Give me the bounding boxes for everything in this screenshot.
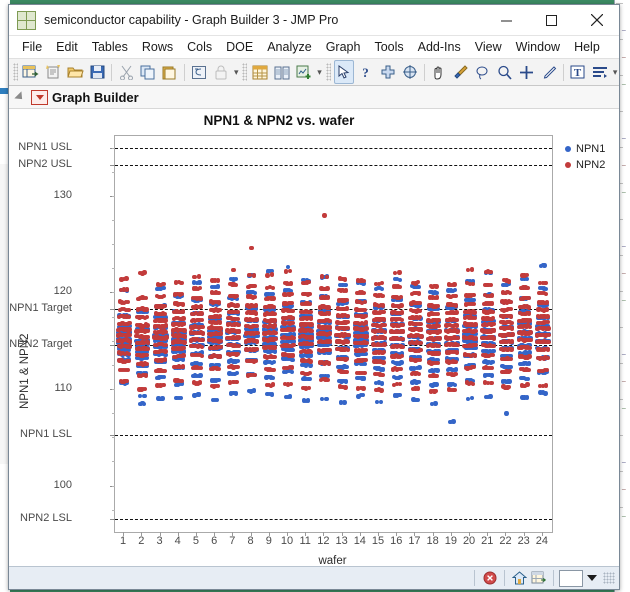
- data-point[interactable]: [507, 279, 511, 283]
- data-point[interactable]: [452, 282, 456, 286]
- data-point[interactable]: [361, 386, 365, 390]
- data-point[interactable]: [325, 378, 329, 382]
- data-point[interactable]: [307, 280, 311, 284]
- data-point[interactable]: [456, 336, 460, 340]
- data-point[interactable]: [236, 323, 240, 327]
- toolbar-grip[interactable]: [242, 63, 247, 81]
- report-outline-header[interactable]: Graph Builder: [9, 86, 619, 109]
- data-point[interactable]: [272, 360, 276, 364]
- data-point[interactable]: [451, 419, 455, 423]
- data-point[interactable]: [344, 288, 348, 292]
- data-point[interactable]: [217, 367, 221, 371]
- data-point[interactable]: [364, 348, 368, 352]
- data-point[interactable]: [436, 361, 440, 365]
- data-point[interactable]: [379, 388, 383, 392]
- menu-help[interactable]: Help: [567, 38, 607, 56]
- data-point[interactable]: [361, 279, 365, 283]
- data-point[interactable]: [327, 348, 331, 352]
- data-point[interactable]: [363, 314, 367, 318]
- data-point[interactable]: [507, 379, 511, 383]
- close-icon[interactable]: [574, 6, 619, 35]
- new-data-table-icon[interactable]: [21, 60, 41, 84]
- data-point[interactable]: [126, 308, 130, 312]
- data-point[interactable]: [528, 325, 532, 329]
- data-point[interactable]: [435, 291, 439, 295]
- data-point[interactable]: [510, 339, 514, 343]
- data-point[interactable]: [326, 295, 330, 299]
- data-point[interactable]: [525, 273, 529, 277]
- data-point[interactable]: [419, 327, 423, 331]
- data-point[interactable]: [417, 365, 421, 369]
- data-point[interactable]: [492, 336, 496, 340]
- data-point[interactable]: [510, 332, 514, 336]
- data-point[interactable]: [289, 292, 293, 296]
- data-point[interactable]: [237, 335, 241, 339]
- data-point[interactable]: [472, 310, 476, 314]
- data-point[interactable]: [546, 347, 550, 351]
- data-point[interactable]: [491, 344, 495, 348]
- data-point[interactable]: [381, 310, 385, 314]
- data-point[interactable]: [543, 281, 547, 285]
- data-point[interactable]: [272, 355, 276, 359]
- data-point[interactable]: [363, 358, 367, 362]
- data-point[interactable]: [528, 338, 532, 342]
- toolbar-overflow-2[interactable]: ▾: [315, 67, 323, 78]
- new-script-icon[interactable]: [43, 60, 63, 84]
- data-point[interactable]: [545, 300, 549, 304]
- data-point[interactable]: [544, 292, 548, 296]
- data-point[interactable]: [181, 364, 185, 368]
- data-point[interactable]: [526, 368, 530, 372]
- data-point[interactable]: [234, 380, 238, 384]
- data-point[interactable]: [434, 382, 438, 386]
- data-point[interactable]: [508, 291, 512, 295]
- data-point[interactable]: [252, 388, 256, 392]
- data-point[interactable]: [397, 393, 401, 397]
- crosshair-icon[interactable]: [378, 60, 398, 84]
- data-point[interactable]: [488, 394, 492, 398]
- data-point[interactable]: [160, 396, 164, 400]
- x-axis-title[interactable]: wafer: [114, 555, 551, 566]
- data-point[interactable]: [252, 284, 256, 288]
- data-point[interactable]: [472, 365, 476, 369]
- data-point[interactable]: [381, 303, 385, 307]
- data-point[interactable]: [218, 345, 222, 349]
- data-point[interactable]: [416, 380, 420, 384]
- data-point[interactable]: [235, 303, 239, 307]
- home-window-icon[interactable]: [510, 569, 529, 587]
- data-point[interactable]: [161, 383, 165, 387]
- menu-file[interactable]: File: [15, 38, 49, 56]
- data-point[interactable]: [307, 386, 311, 390]
- data-point[interactable]: [489, 381, 493, 385]
- data-point[interactable]: [327, 319, 331, 323]
- data-point[interactable]: [310, 329, 314, 333]
- brush-icon[interactable]: [451, 60, 471, 84]
- data-point[interactable]: [470, 396, 474, 400]
- data-point[interactable]: [345, 306, 349, 310]
- data-point[interactable]: [454, 303, 458, 307]
- data-point[interactable]: [127, 315, 131, 319]
- menu-doe[interactable]: DOE: [219, 38, 260, 56]
- data-point[interactable]: [453, 288, 457, 292]
- data-point[interactable]: [164, 335, 168, 339]
- data-point[interactable]: [270, 392, 274, 396]
- data-point[interactable]: [490, 360, 494, 364]
- data-point[interactable]: [435, 295, 439, 299]
- data-point[interactable]: [273, 349, 277, 353]
- data-point[interactable]: [289, 281, 293, 285]
- data-point[interactable]: [310, 335, 314, 339]
- data-point[interactable]: [219, 339, 223, 343]
- data-point[interactable]: [142, 394, 146, 398]
- data-point[interactable]: [289, 382, 293, 386]
- data-point[interactable]: [362, 291, 366, 295]
- data-point[interactable]: [363, 300, 367, 304]
- data-point[interactable]: [235, 371, 239, 375]
- data-point[interactable]: [291, 327, 295, 331]
- data-point[interactable]: [181, 309, 185, 313]
- save-icon[interactable]: [87, 60, 107, 84]
- data-point[interactable]: [216, 284, 220, 288]
- data-point[interactable]: [200, 325, 204, 329]
- data-point[interactable]: [231, 268, 235, 272]
- data-point[interactable]: [474, 336, 478, 340]
- legend[interactable]: NPN1 NPN2: [565, 141, 605, 173]
- data-point[interactable]: [162, 294, 166, 298]
- toolbar-grip[interactable]: [13, 63, 18, 81]
- paste-icon[interactable]: [160, 60, 180, 84]
- pencil-annotate-icon[interactable]: [539, 60, 559, 84]
- menu-graph[interactable]: Graph: [319, 38, 368, 56]
- data-point[interactable]: [415, 398, 419, 402]
- data-point[interactable]: [255, 347, 259, 351]
- data-point[interactable]: [417, 301, 421, 305]
- data-point[interactable]: [525, 395, 529, 399]
- minimize-icon[interactable]: [484, 6, 529, 35]
- data-point[interactable]: [179, 396, 183, 400]
- data-point[interactable]: [145, 323, 149, 327]
- data-point[interactable]: [399, 303, 403, 307]
- data-point[interactable]: [324, 397, 328, 401]
- data-point[interactable]: [217, 308, 221, 312]
- data-point[interactable]: [380, 281, 384, 285]
- legend-item-npn1[interactable]: NPN1: [565, 141, 605, 157]
- data-point[interactable]: [142, 270, 146, 274]
- data-point[interactable]: [381, 367, 385, 371]
- data-point[interactable]: [162, 304, 166, 308]
- grabber-target-icon[interactable]: [400, 60, 420, 84]
- data-point[interactable]: [382, 317, 386, 321]
- data-point[interactable]: [198, 380, 202, 384]
- data-point[interactable]: [400, 310, 404, 314]
- data-point[interactable]: [271, 368, 275, 372]
- data-point[interactable]: [489, 283, 493, 287]
- data-point[interactable]: [343, 283, 347, 287]
- data-point[interactable]: [547, 333, 551, 337]
- data-point[interactable]: [437, 324, 441, 328]
- data-point[interactable]: [144, 307, 148, 311]
- data-point[interactable]: [383, 330, 387, 334]
- data-point[interactable]: [253, 373, 257, 377]
- data-point[interactable]: [128, 339, 132, 343]
- data-point[interactable]: [198, 286, 202, 290]
- data-point[interactable]: [273, 345, 277, 349]
- data-point[interactable]: [436, 312, 440, 316]
- data-point[interactable]: [291, 348, 295, 352]
- add-graph-icon[interactable]: [294, 60, 314, 84]
- data-point[interactable]: [163, 349, 167, 353]
- data-point[interactable]: [543, 391, 547, 395]
- data-point[interactable]: [490, 293, 494, 297]
- data-point[interactable]: [453, 372, 457, 376]
- data-point[interactable]: [127, 321, 131, 325]
- data-point[interactable]: [237, 329, 241, 333]
- data-point[interactable]: [273, 318, 277, 322]
- data-point[interactable]: [270, 272, 274, 276]
- data-point[interactable]: [492, 328, 496, 332]
- data-point[interactable]: [200, 338, 204, 342]
- data-point[interactable]: [509, 314, 513, 318]
- cut-scissors-icon[interactable]: [116, 60, 136, 84]
- data-point[interactable]: [527, 354, 531, 358]
- data-point[interactable]: [508, 369, 512, 373]
- data-point[interactable]: [236, 352, 240, 356]
- dropdown-caret-icon[interactable]: [587, 575, 597, 581]
- text-tool-icon[interactable]: T: [568, 60, 588, 84]
- data-point[interactable]: [181, 316, 185, 320]
- data-point[interactable]: [179, 281, 183, 285]
- data-point[interactable]: [364, 326, 368, 330]
- data-point[interactable]: [380, 287, 384, 291]
- data-point[interactable]: [504, 411, 508, 415]
- data-point[interactable]: [271, 296, 275, 300]
- data-point[interactable]: [418, 322, 422, 326]
- graph-builder-plot[interactable]: NPN1 & NPN2 vs. wafer NPN1 & NPN2 wafer …: [9, 109, 619, 566]
- script-window-icon[interactable]: [189, 60, 209, 84]
- error-badge-icon[interactable]: [480, 569, 499, 587]
- data-point[interactable]: [380, 373, 384, 377]
- data-point[interactable]: [200, 318, 204, 322]
- data-point[interactable]: [472, 302, 476, 306]
- data-point[interactable]: [419, 334, 423, 338]
- data-point[interactable]: [290, 365, 294, 369]
- data-point[interactable]: [307, 377, 311, 381]
- data-point[interactable]: [418, 309, 422, 313]
- data-point[interactable]: [363, 362, 367, 366]
- data-point[interactable]: [254, 359, 258, 363]
- data-point[interactable]: [144, 373, 148, 377]
- data-point[interactable]: [491, 322, 495, 326]
- data-point[interactable]: [361, 393, 365, 397]
- data-point[interactable]: [198, 296, 202, 300]
- data-point[interactable]: [546, 340, 550, 344]
- data-point[interactable]: [182, 328, 186, 332]
- data-point[interactable]: [216, 278, 220, 282]
- data-point[interactable]: [509, 321, 513, 325]
- data-point[interactable]: [344, 379, 348, 383]
- data-point[interactable]: [398, 285, 402, 289]
- data-point[interactable]: [508, 300, 512, 304]
- data-point[interactable]: [434, 284, 438, 288]
- data-point[interactable]: [380, 294, 384, 298]
- data-point[interactable]: [346, 348, 350, 352]
- data-point[interactable]: [320, 274, 324, 278]
- data-point[interactable]: [216, 291, 220, 295]
- data-point[interactable]: [380, 381, 384, 385]
- data-point[interactable]: [398, 382, 402, 386]
- data-point[interactable]: [455, 323, 459, 327]
- data-point[interactable]: [398, 278, 402, 282]
- data-point[interactable]: [473, 316, 477, 320]
- data-point[interactable]: [546, 320, 550, 324]
- data-point[interactable]: [328, 331, 332, 335]
- data-point[interactable]: [308, 371, 312, 375]
- data-point[interactable]: [218, 326, 222, 330]
- data-point[interactable]: [527, 361, 531, 365]
- menu-view[interactable]: View: [468, 38, 509, 56]
- data-point[interactable]: [382, 350, 386, 354]
- data-point[interactable]: [215, 398, 219, 402]
- data-point[interactable]: [345, 314, 349, 318]
- data-point[interactable]: [362, 376, 366, 380]
- data-point[interactable]: [143, 387, 147, 391]
- data-point[interactable]: [273, 337, 277, 341]
- data-point[interactable]: [473, 353, 477, 357]
- copy-icon[interactable]: [138, 60, 158, 84]
- data-point[interactable]: [199, 366, 203, 370]
- list-lines-icon[interactable]: [590, 60, 610, 84]
- data-point[interactable]: [181, 357, 185, 361]
- data-point[interactable]: [488, 270, 492, 274]
- data-point[interactable]: [400, 354, 404, 358]
- data-point[interactable]: [510, 326, 514, 330]
- data-point[interactable]: [364, 320, 368, 324]
- data-point[interactable]: [164, 323, 168, 327]
- lock-icon[interactable]: [211, 60, 231, 84]
- data-point[interactable]: [145, 347, 149, 351]
- data-point[interactable]: [236, 359, 240, 363]
- data-point[interactable]: [343, 277, 347, 281]
- data-point[interactable]: [436, 351, 440, 355]
- data-point[interactable]: [197, 280, 201, 284]
- data-point[interactable]: [253, 295, 257, 299]
- menu-tools[interactable]: Tools: [367, 38, 410, 56]
- resize-grip-icon[interactable]: [603, 572, 615, 584]
- data-point[interactable]: [183, 334, 187, 338]
- data-point[interactable]: [362, 371, 366, 375]
- data-point[interactable]: [234, 391, 238, 395]
- data-point[interactable]: [326, 305, 330, 309]
- data-point[interactable]: [434, 389, 438, 393]
- data-point[interactable]: [490, 301, 494, 305]
- menu-tables[interactable]: Tables: [85, 38, 135, 56]
- data-point[interactable]: [288, 269, 292, 273]
- data-point[interactable]: [528, 318, 532, 322]
- data-point[interactable]: [291, 353, 295, 357]
- data-point[interactable]: [197, 274, 201, 278]
- data-point[interactable]: [491, 353, 495, 357]
- hand-pan-icon[interactable]: [429, 60, 449, 84]
- data-point[interactable]: [491, 310, 495, 314]
- data-table-window-icon[interactable]: [529, 569, 548, 587]
- data-point[interactable]: [181, 302, 185, 306]
- data-point[interactable]: [344, 298, 348, 302]
- data-point[interactable]: [197, 392, 201, 396]
- data-table-icon[interactable]: [250, 60, 270, 84]
- data-point[interactable]: [344, 365, 348, 369]
- data-point[interactable]: [307, 292, 311, 296]
- data-point[interactable]: [182, 322, 186, 326]
- data-point[interactable]: [308, 359, 312, 363]
- data-point[interactable]: [418, 358, 422, 362]
- data-point[interactable]: [471, 293, 475, 297]
- data-point[interactable]: [306, 398, 310, 402]
- data-point[interactable]: [327, 311, 331, 315]
- menu-edit[interactable]: Edit: [49, 38, 85, 56]
- data-point[interactable]: [381, 360, 385, 364]
- data-point[interactable]: [254, 303, 258, 307]
- data-point[interactable]: [382, 342, 386, 346]
- data-point[interactable]: [437, 344, 441, 348]
- data-point[interactable]: [328, 339, 332, 343]
- data-point[interactable]: [146, 340, 150, 344]
- data-point[interactable]: [216, 378, 220, 382]
- data-point[interactable]: [433, 401, 437, 405]
- data-point[interactable]: [325, 286, 329, 290]
- data-point[interactable]: [201, 331, 205, 335]
- data-point[interactable]: [417, 372, 421, 376]
- data-point[interactable]: [399, 367, 403, 371]
- data-point[interactable]: [526, 296, 530, 300]
- data-point[interactable]: [509, 357, 513, 361]
- data-point[interactable]: [398, 375, 402, 379]
- data-point[interactable]: [345, 357, 349, 361]
- data-point[interactable]: [437, 329, 441, 333]
- data-point[interactable]: [542, 263, 546, 267]
- data-point[interactable]: [509, 307, 513, 311]
- maximize-icon[interactable]: [529, 6, 574, 35]
- data-point[interactable]: [127, 344, 131, 348]
- data-point[interactable]: [546, 326, 550, 330]
- lasso-icon[interactable]: [473, 60, 493, 84]
- data-point[interactable]: [247, 273, 251, 277]
- data-point[interactable]: [545, 314, 549, 318]
- data-point[interactable]: [490, 366, 494, 370]
- title-bar[interactable]: semiconductor capability - Graph Builder…: [9, 5, 619, 36]
- data-point[interactable]: [416, 386, 420, 390]
- data-point[interactable]: [452, 388, 456, 392]
- data-point[interactable]: [416, 280, 420, 284]
- data-point[interactable]: [291, 316, 295, 320]
- data-point[interactable]: [528, 346, 532, 350]
- disclosure-triangle-icon[interactable]: [14, 91, 25, 102]
- data-point[interactable]: [290, 358, 294, 362]
- data-point[interactable]: [507, 385, 511, 389]
- data-point[interactable]: [322, 213, 326, 217]
- data-point[interactable]: [199, 311, 203, 315]
- data-point[interactable]: [328, 325, 332, 329]
- data-point[interactable]: [455, 329, 459, 333]
- data-point[interactable]: [399, 360, 403, 364]
- data-point[interactable]: [509, 347, 513, 351]
- data-point[interactable]: [163, 357, 167, 361]
- data-point[interactable]: [237, 344, 241, 348]
- help-question-icon[interactable]: ?: [356, 60, 376, 84]
- data-point[interactable]: [124, 276, 128, 280]
- data-point[interactable]: [163, 318, 167, 322]
- data-point[interactable]: [455, 350, 459, 354]
